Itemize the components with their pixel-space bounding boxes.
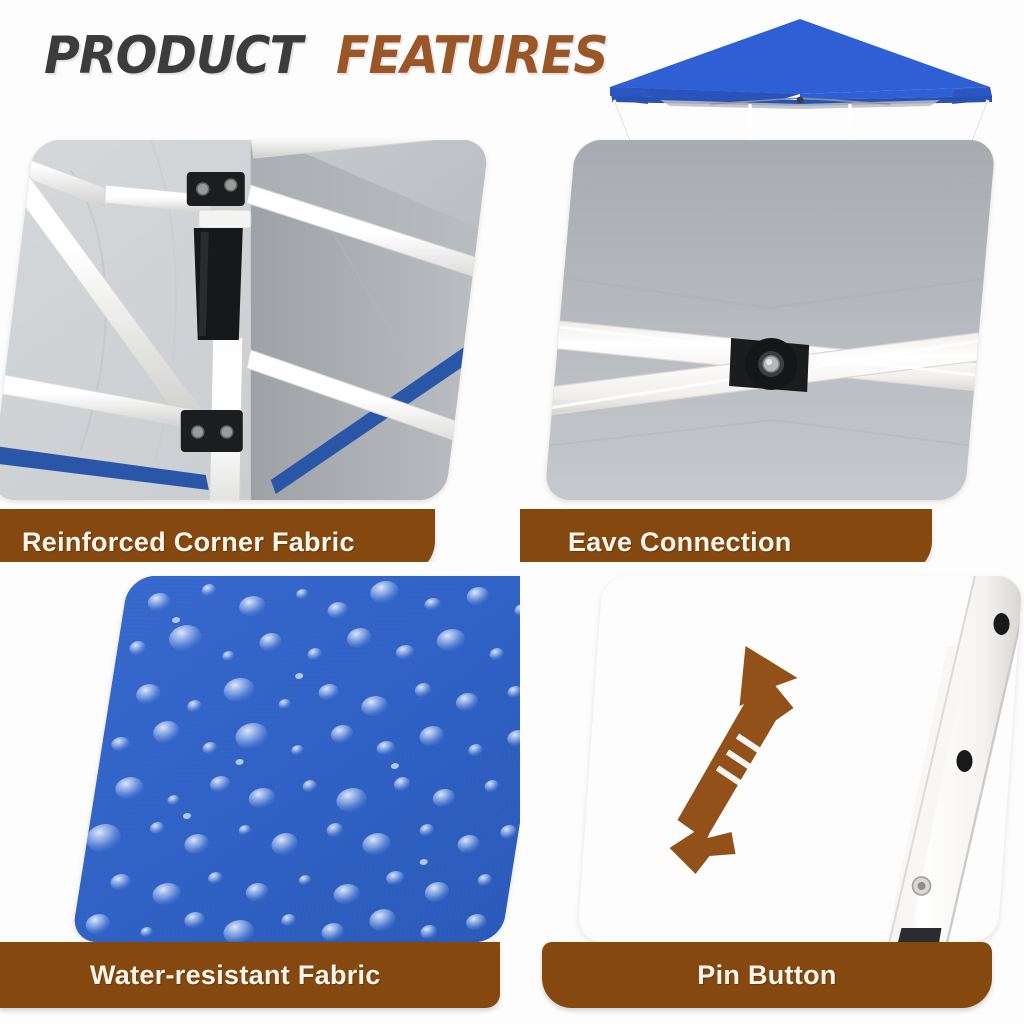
feature-label-pin-button: Pin Button: [542, 942, 992, 1008]
feature-label-reinforced-corner-fabric: Reinforced Corner Fabric: [0, 509, 435, 562]
feature-label-water-resistant-fabric: Water-resistant Fabric: [0, 942, 500, 1008]
pin-button-svg: [577, 576, 1023, 942]
feature-photo-eave-connection: [544, 140, 995, 500]
feature-label-text: Reinforced Corner Fabric: [22, 527, 355, 558]
eave-connection-svg: [544, 140, 995, 500]
feature-card-eave-connection[interactable]: Eave Connection: [520, 132, 1024, 562]
infographic-canvas: PRODUCT FEATURES: [0, 0, 1024, 1024]
feature-photo-water-resistant-fabric: [71, 576, 520, 942]
page-title: PRODUCT FEATURES: [44, 26, 625, 86]
title-word-features: FEATURES: [336, 26, 608, 86]
feature-photo-pin-button: [577, 576, 1023, 942]
feature-photo-reinforced-corner-fabric: [0, 140, 489, 500]
title-word-product: PRODUCT: [44, 26, 302, 86]
feature-card-pin-button[interactable]: Pin Button: [520, 566, 1024, 1024]
feature-card-reinforced-corner-fabric[interactable]: Reinforced Corner Fabric: [0, 132, 520, 562]
feature-label-text: Eave Connection: [568, 527, 792, 558]
feature-label-eave-connection: Eave Connection: [520, 509, 932, 562]
feature-label-text: Pin Button: [697, 960, 836, 991]
corner-fabric-svg: [0, 140, 489, 500]
feature-card-water-resistant-fabric[interactable]: Water-resistant Fabric: [0, 566, 520, 1024]
water-droplets-svg: [71, 576, 520, 942]
feature-label-text: Water-resistant Fabric: [90, 960, 381, 991]
